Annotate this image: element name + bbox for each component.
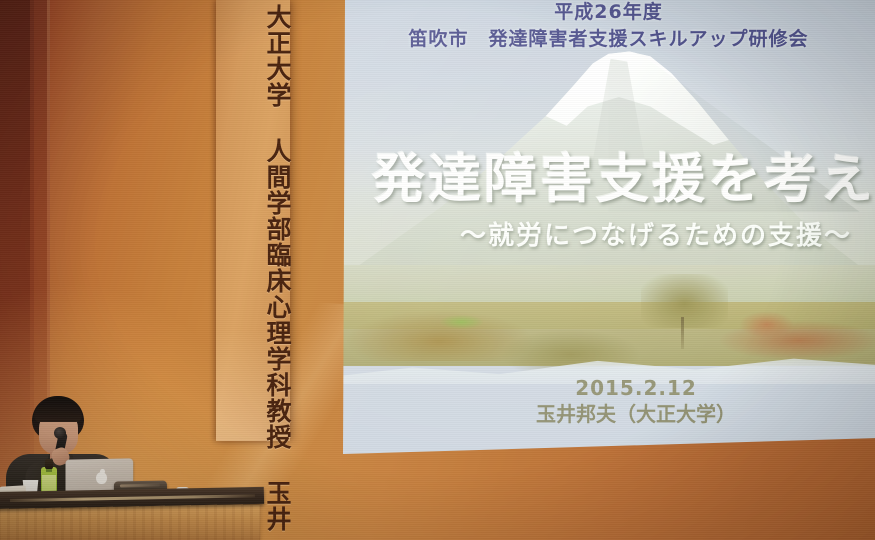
slide-header: 平成26年度 笛吹市 発達障害者支援スキルアップ研修会 xyxy=(336,0,875,51)
apple-logo-icon xyxy=(96,472,107,484)
lecture-hall-photo: 大正大学 人間学部臨床心理学科教授 玉井 邦夫 先生 xyxy=(0,0,875,540)
slide-subtitle: 〜就労につなげるための支援〜 xyxy=(396,220,875,252)
right-autumn-bush-accent xyxy=(739,311,794,339)
projection-screen: 平成26年度 笛吹市 発達障害者支援スキルアップ研修会 発達障害支援を考え 〜就… xyxy=(336,0,875,458)
slide-date: 2015.2.12 xyxy=(456,376,816,400)
slide-header-line1: 平成26年度 xyxy=(336,0,875,23)
lone-tree xyxy=(641,274,728,348)
tree-trunk xyxy=(681,317,684,349)
slide-presenter: 玉井邦夫（大正大学） xyxy=(456,402,816,426)
slide-title: 発達障害支援を考え xyxy=(372,150,875,210)
tree-crown xyxy=(641,274,728,328)
podium-front-panel xyxy=(0,505,260,540)
microphone-head xyxy=(54,427,66,439)
slide-surface: 平成26年度 笛吹市 発達障害者支援スキルアップ研修会 発達障害支援を考え 〜就… xyxy=(336,0,875,458)
tea-bottle-cap xyxy=(45,459,53,469)
vertical-banner: 大正大学 人間学部臨床心理学科教授 玉井 邦夫 先生 xyxy=(216,0,290,441)
slide-header-line2: 笛吹市 発達障害者支援スキルアップ研修会 xyxy=(336,23,875,51)
podium-wood-grain xyxy=(0,505,260,540)
banner-text: 大正大学 人間学部臨床心理学科教授 玉井 邦夫 先生 xyxy=(216,4,290,438)
speaker-hair-fringe xyxy=(34,404,82,422)
green-grass-patch xyxy=(440,315,484,329)
remote-highlight xyxy=(120,484,160,488)
